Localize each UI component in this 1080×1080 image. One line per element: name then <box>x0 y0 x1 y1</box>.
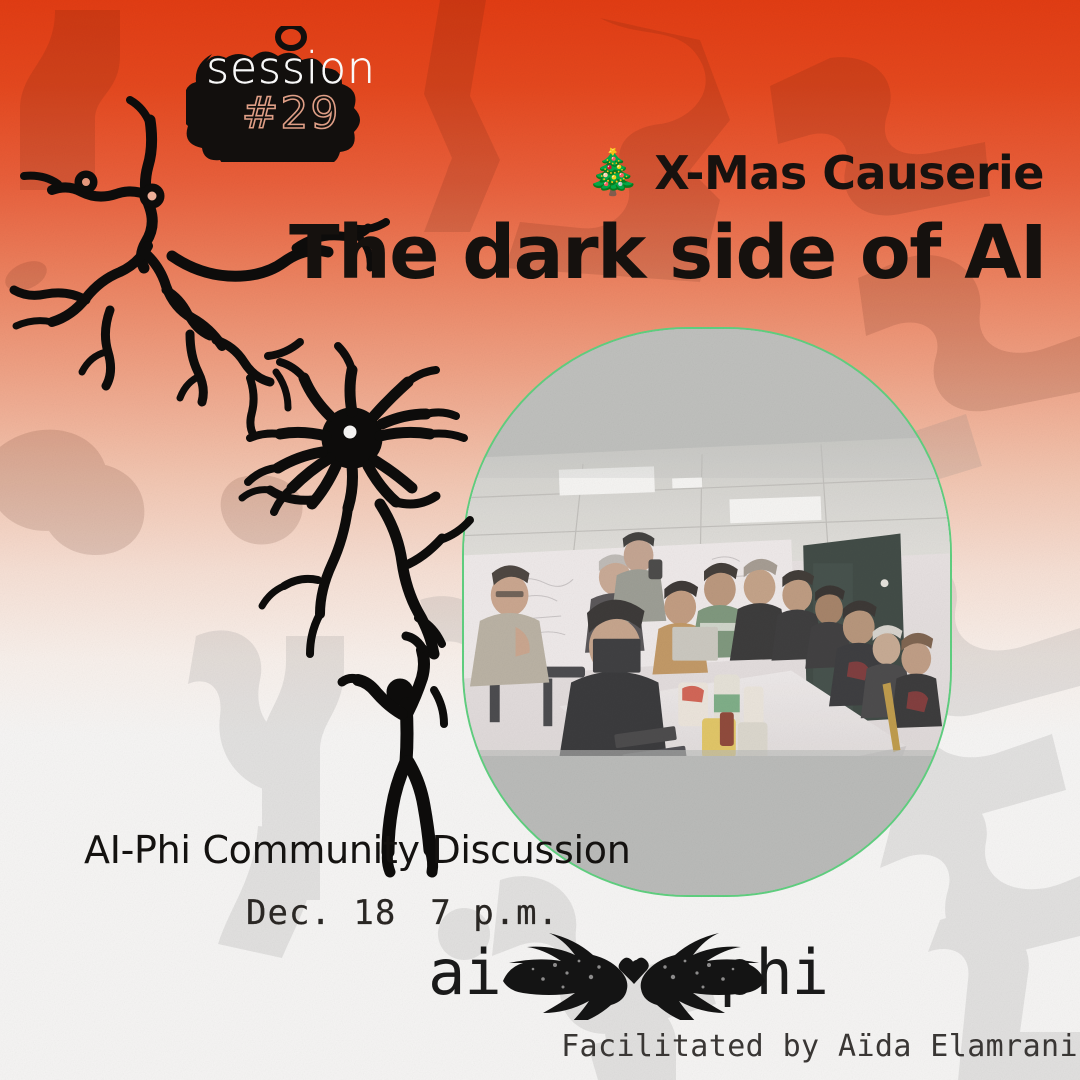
poster-canvas: session #29 🎄 X-Mas Causerie The dark si… <box>0 0 1080 1080</box>
grain-overlay <box>0 0 1080 1080</box>
